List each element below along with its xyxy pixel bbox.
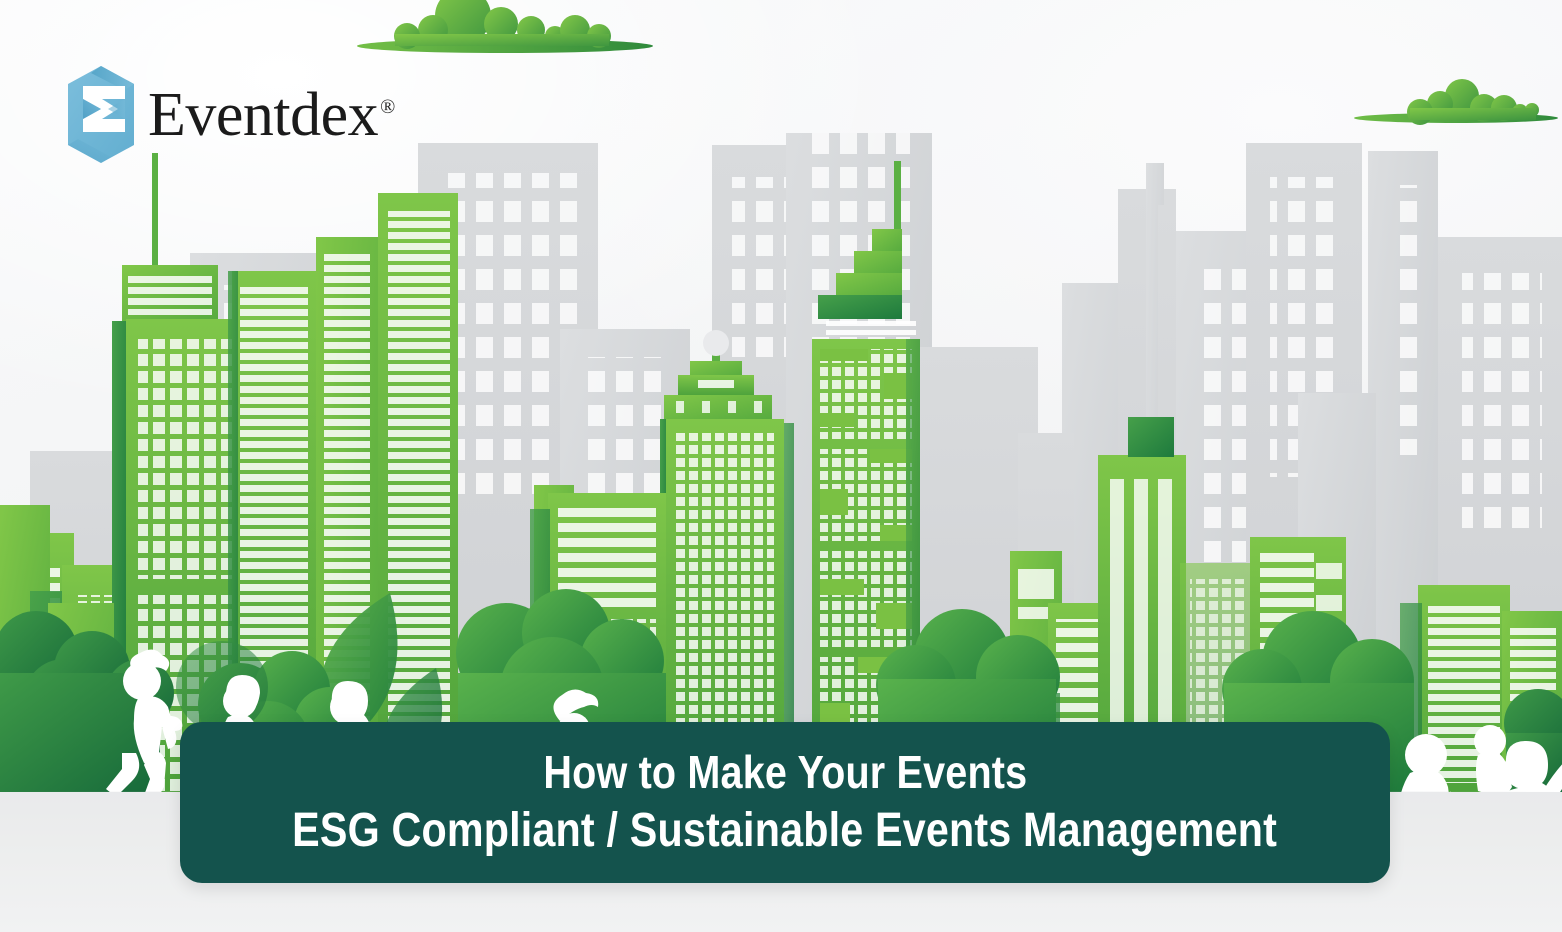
banner-title-line-2: ESG Compliant / Sustainable Events Manag… — [293, 805, 1278, 857]
poster-canvas: Eventdex® How to Make Your Events ESG Co… — [0, 0, 1562, 932]
brand-logo[interactable]: Eventdex® — [68, 66, 395, 163]
cloud-right — [1352, 78, 1562, 145]
cityscape-illustration — [0, 133, 1562, 793]
brand-wordmark: Eventdex® — [148, 84, 395, 146]
eventdex-hexagon-logo-icon — [68, 66, 134, 163]
registered-trademark-icon: ® — [380, 96, 395, 118]
cloud-left — [355, 0, 655, 73]
title-banner: How to Make Your Events ESG Compliant / … — [180, 722, 1390, 883]
brand-name: Eventdex — [148, 81, 378, 149]
banner-title-line-1: How to Make Your Events — [543, 748, 1027, 798]
